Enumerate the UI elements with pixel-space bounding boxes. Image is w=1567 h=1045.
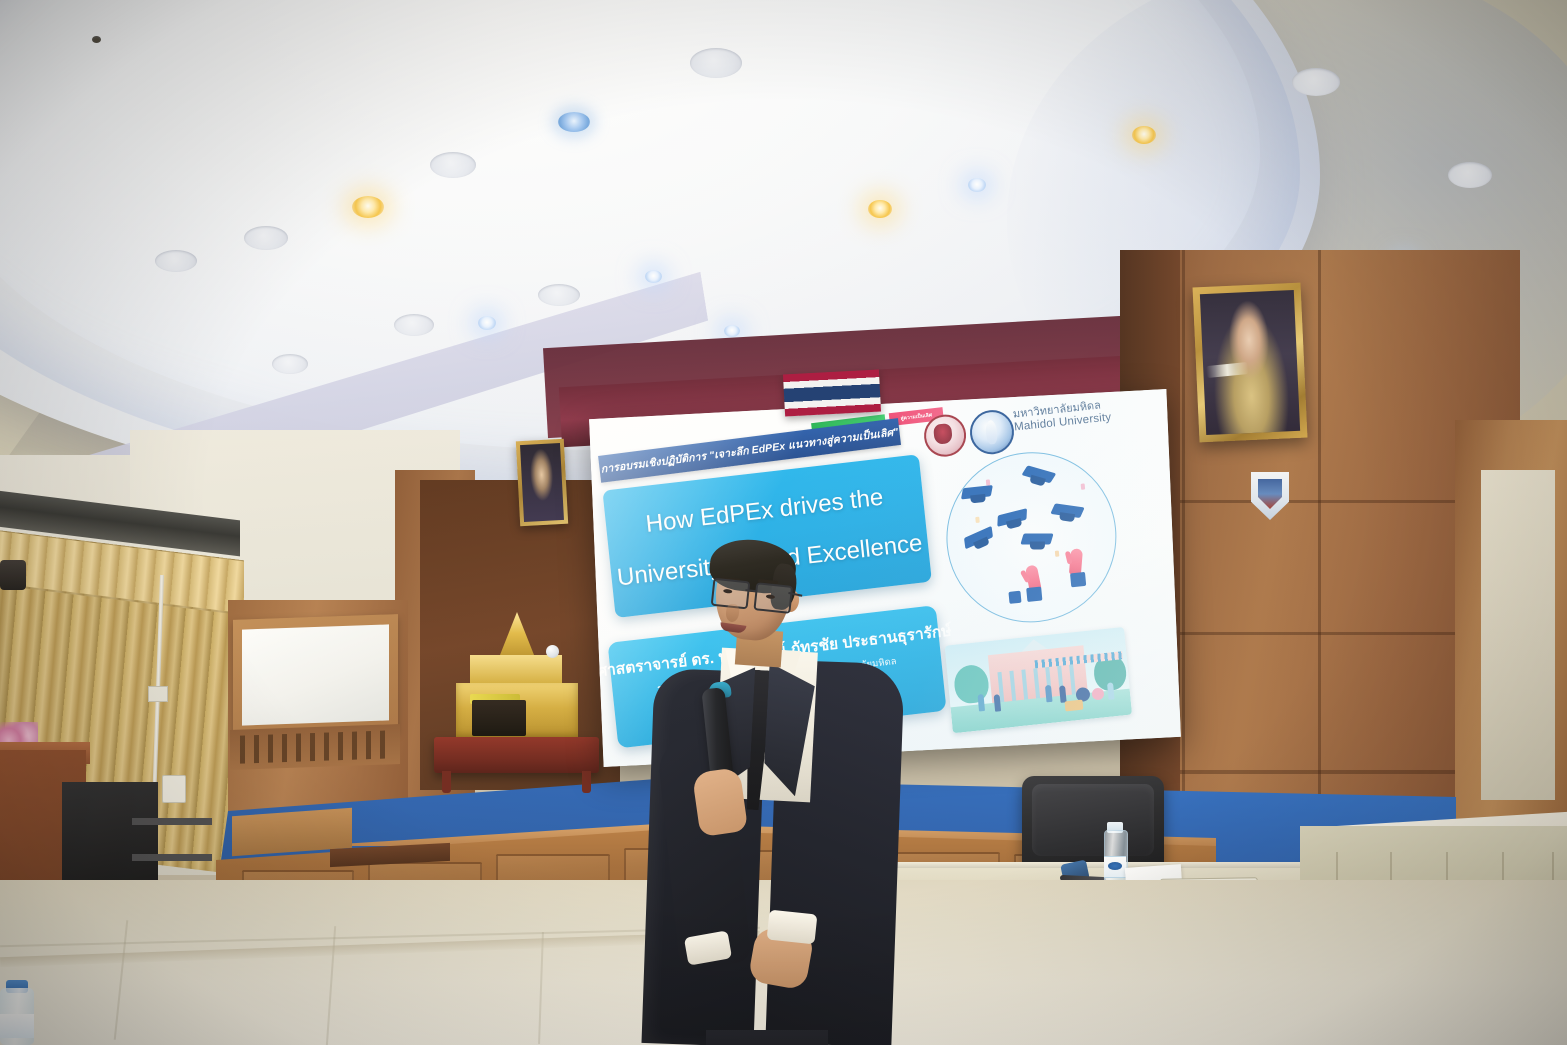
downlight-icon: [690, 48, 742, 78]
shrine-red-table: [434, 737, 599, 773]
downlight-icon: [155, 250, 197, 272]
wood-balustrade: [230, 724, 400, 770]
portrait-image-small: [520, 443, 564, 522]
downlight-icon: [394, 314, 434, 336]
thai-flag-icon: [783, 370, 881, 417]
downlight-icon: [352, 196, 384, 218]
downlight-icon: [244, 226, 288, 250]
raised-hand-icon: [1069, 548, 1083, 575]
downlight-icon: [1132, 126, 1156, 144]
downlight-icon: [478, 316, 496, 330]
presenter-person: [640, 530, 910, 1045]
shrine-orb-icon: [546, 645, 559, 658]
cable-box-icon: [162, 775, 186, 803]
shrine-inner-altar: [472, 700, 526, 736]
trousers: [706, 1030, 828, 1045]
portrait-image: [1200, 290, 1300, 435]
podium-object: [0, 560, 26, 590]
downlight-icon: [645, 270, 662, 283]
downlight-icon: [430, 152, 476, 178]
royal-portrait-small-icon: [516, 439, 568, 526]
floor-bottle-label: [0, 1014, 34, 1038]
office-chair-icon[interactable]: [1022, 776, 1164, 872]
conference-hall-photo: สู่ความเป็นเลิศ การอบรมเชิงปฏิบัติการ "เ…: [0, 0, 1567, 1045]
mahidol-logo-text: มหาวิทยาลัยมหิดล Mahidol University: [1012, 399, 1111, 433]
downlight-icon: [724, 325, 740, 337]
ceiling-vent-icon: [92, 36, 101, 43]
downlight-icon: [868, 200, 892, 218]
whiteboard-surface: [242, 624, 389, 725]
bottle-label: [1104, 856, 1126, 878]
downlight-icon: [538, 284, 580, 306]
graduation-cap-icon: [939, 444, 1124, 631]
downlight-icon: [1448, 162, 1492, 188]
downlight-icon: [272, 354, 308, 374]
wall-outlet-icon[interactable]: [148, 686, 168, 702]
downlight-icon: [1292, 68, 1340, 96]
royal-portrait-icon: [1193, 283, 1308, 443]
downlight-icon: [968, 178, 986, 192]
slide-badge-label: สู่ความเป็นเลิศ: [900, 411, 932, 423]
whiteboard-icon: [233, 614, 398, 738]
campus-building-icon: [945, 627, 1132, 733]
av-equipment-rack: [62, 782, 158, 887]
shirt-cuff-right: [767, 910, 818, 945]
mahidol-logo-icon: [968, 408, 1016, 456]
wood-door-frame-right: [1455, 420, 1567, 850]
downlight-icon: [558, 112, 590, 132]
